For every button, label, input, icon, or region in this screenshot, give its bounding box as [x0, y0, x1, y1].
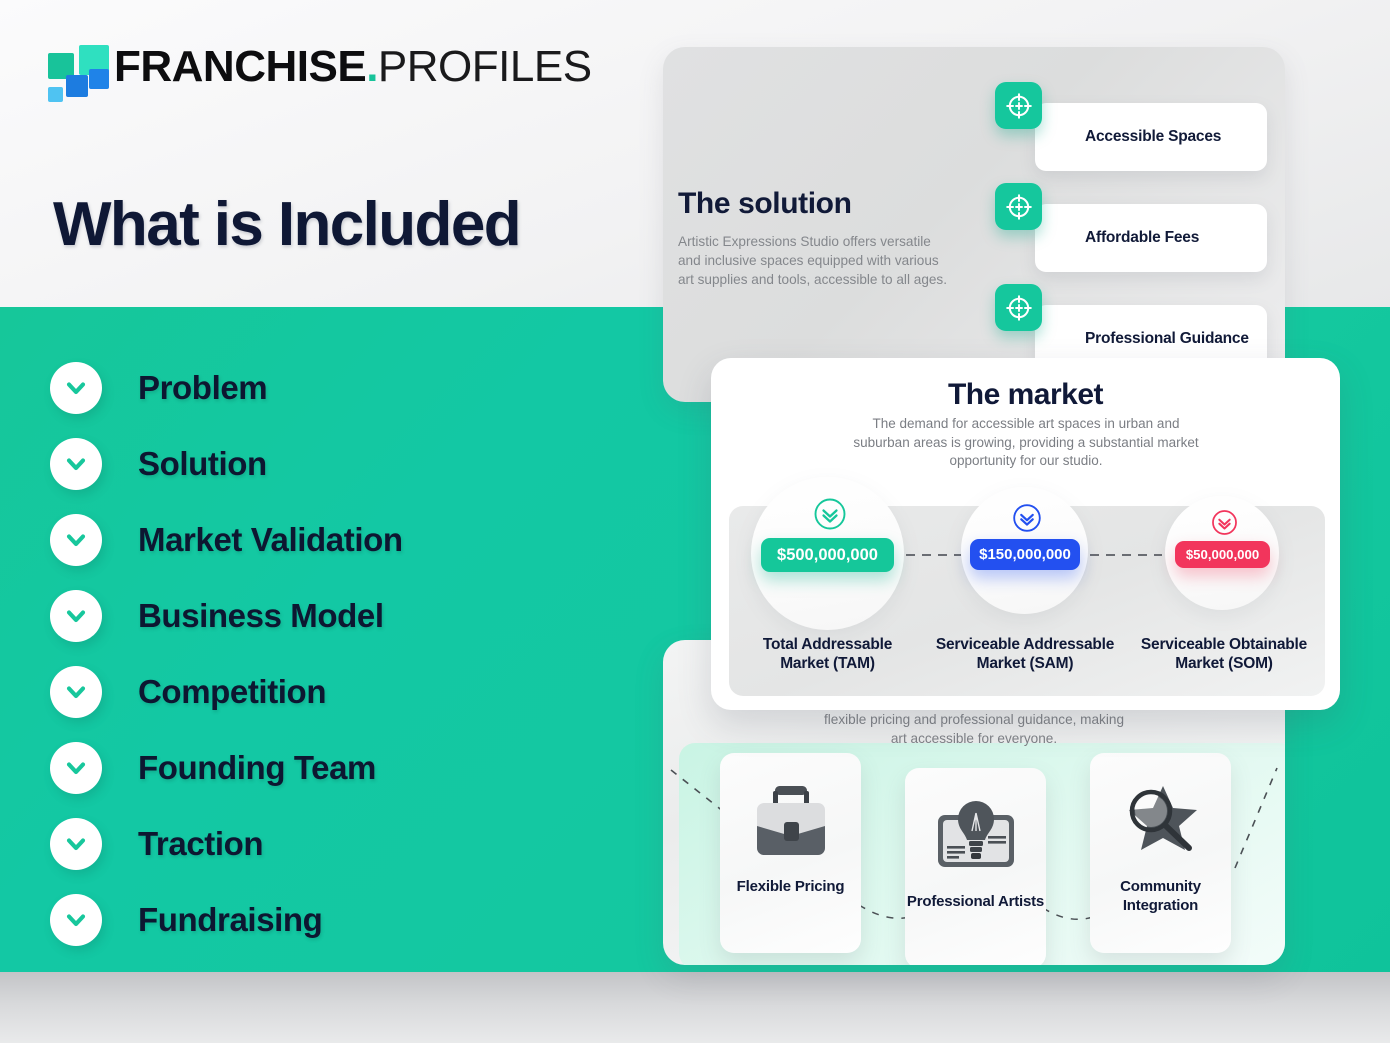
- pillar-label: Community Integration: [1090, 877, 1231, 915]
- market-dashed-connector: [906, 554, 961, 556]
- solution-feature-card[interactable]: Accessible Spaces: [1035, 103, 1267, 171]
- solution-feature-row[interactable]: Accessible Spaces: [995, 82, 1275, 174]
- chevron-down-icon[interactable]: [50, 666, 102, 718]
- market-value-badge-som: $50,000,000: [1175, 541, 1270, 568]
- crosshair-target-icon: [995, 284, 1042, 331]
- logo-square-blue-2: [89, 69, 109, 89]
- included-sections-list: Problem Solution Market Validation Busin…: [50, 350, 610, 958]
- market-dashed-connector: [1090, 554, 1162, 556]
- lightbulb-certificate-icon: [928, 790, 1024, 882]
- pillar-card[interactable]: Professional Artists: [905, 768, 1046, 965]
- market-label-som: Serviceable Obtainable Market (SOM): [1134, 636, 1314, 673]
- pillar-label: Flexible Pricing: [737, 877, 845, 896]
- solution-card-title: The solution: [678, 187, 852, 221]
- solution-feature-label: Affordable Fees: [1085, 229, 1199, 247]
- list-item-label: Competition: [138, 673, 326, 711]
- market-card-body: The demand for accessible art spaces in …: [846, 415, 1206, 471]
- chevron-down-icon[interactable]: [50, 894, 102, 946]
- list-item-label: Fundraising: [138, 901, 322, 939]
- market-value-badge-sam: $150,000,000: [970, 539, 1080, 570]
- pillar-card[interactable]: Community Integration: [1090, 753, 1231, 953]
- double-chevron-down-icon: [1211, 509, 1238, 541]
- list-item-label: Solution: [138, 445, 267, 483]
- logo-squares-icon: [44, 45, 106, 101]
- solution-feature-label: Accessible Spaces: [1085, 128, 1221, 146]
- crosshair-target-icon: [995, 183, 1042, 230]
- list-item[interactable]: Solution: [50, 426, 610, 502]
- market-card-title: The market: [711, 378, 1340, 412]
- pillar-card[interactable]: Flexible Pricing: [720, 753, 861, 953]
- list-item-label: Business Model: [138, 597, 384, 635]
- list-item[interactable]: Traction: [50, 806, 610, 882]
- list-item-label: Traction: [138, 825, 263, 863]
- market-label-sam: Serviceable Addressable Market (SAM): [935, 636, 1115, 673]
- list-item-label: Market Validation: [138, 521, 403, 559]
- crosshair-target-icon: [995, 82, 1042, 129]
- list-item[interactable]: Problem: [50, 350, 610, 426]
- brand-name-thin: PROFILES: [378, 42, 592, 91]
- pillar-label: Professional Artists: [907, 892, 1044, 911]
- chevron-down-icon[interactable]: [50, 514, 102, 566]
- page-background-bottom: [0, 972, 1390, 1043]
- solution-feature-label: Professional Guidance: [1085, 330, 1249, 348]
- list-item[interactable]: Business Model: [50, 578, 610, 654]
- brand-logo[interactable]: FRANCHISE.PROFILES: [44, 45, 544, 107]
- chevron-down-icon[interactable]: [50, 438, 102, 490]
- list-item[interactable]: Fundraising: [50, 882, 610, 958]
- business-model-body: flexible pricing and professional guidan…: [824, 710, 1124, 748]
- list-item[interactable]: Competition: [50, 654, 610, 730]
- list-item-label: Founding Team: [138, 749, 376, 787]
- list-item[interactable]: Market Validation: [50, 502, 610, 578]
- brand-wordmark: FRANCHISE.PROFILES: [114, 42, 592, 92]
- logo-square-blue-1: [66, 75, 88, 97]
- list-item[interactable]: Founding Team: [50, 730, 610, 806]
- star-badge-magnifier-icon: [1113, 775, 1209, 867]
- chevron-down-icon[interactable]: [50, 742, 102, 794]
- double-chevron-down-icon: [1012, 503, 1042, 538]
- brand-name-bold: FRANCHISE: [114, 42, 366, 91]
- page-title: What is Included: [53, 189, 520, 260]
- market-value-badge-tam: $500,000,000: [761, 538, 894, 572]
- brand-name-dot: .: [366, 42, 378, 91]
- solution-slide-card: Accessible Spaces Affordable Fees: [663, 47, 1285, 402]
- chevron-down-icon[interactable]: [50, 818, 102, 870]
- list-item-label: Problem: [138, 369, 267, 407]
- logo-square-light-blue: [48, 87, 63, 102]
- briefcase-icon: [743, 775, 839, 867]
- market-label-tam: Total Addressable Market (TAM): [740, 636, 915, 673]
- solution-card-body: Artistic Expressions Studio offers versa…: [678, 232, 950, 289]
- solution-feature-row[interactable]: Affordable Fees: [995, 183, 1275, 275]
- double-chevron-down-icon: [813, 497, 847, 536]
- chevron-down-icon[interactable]: [50, 362, 102, 414]
- solution-feature-card[interactable]: Affordable Fees: [1035, 204, 1267, 272]
- chevron-down-icon[interactable]: [50, 590, 102, 642]
